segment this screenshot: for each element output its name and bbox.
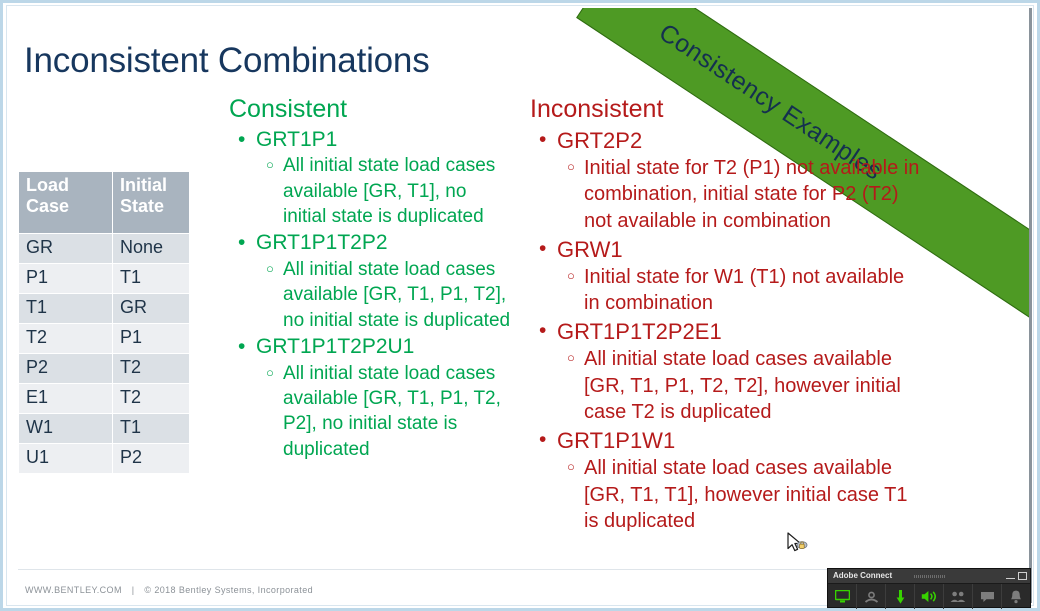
consistent-column: Consistent •GRT1P1○All initial state loa…	[222, 96, 512, 462]
pod-titlebar[interactable]: Adobe Connect	[828, 569, 1030, 584]
combination-label-text: GRT1P1	[256, 128, 337, 151]
note-text: All initial state load cases available […	[283, 363, 501, 460]
adobe-connect-pod[interactable]: Adobe Connect	[827, 568, 1031, 608]
combination-notes: ○All initial state load cases available …	[222, 361, 512, 462]
note-item: ○All initial state load cases available …	[523, 346, 923, 426]
table-header-row: Load Case Initial State	[19, 172, 190, 234]
table-header-load-case: Load Case	[19, 172, 113, 234]
footer-copyright: © 2018 Bentley Systems, Incorporated	[144, 585, 313, 595]
pod-toolbar	[828, 584, 1030, 609]
presentation-viewer: Consistency Examples Inconsistent Combin…	[0, 0, 1040, 611]
list-item: •GRT1P1T2P2E1○All initial state load cas…	[523, 317, 923, 426]
cell-load-case: E1	[19, 384, 113, 414]
list-item: •GRT1P1T2P2U1○All initial state load cas…	[222, 333, 512, 462]
page-title: Inconsistent Combinations	[24, 41, 430, 81]
bullet-circle-icon: ○	[567, 155, 575, 180]
note-item: ○All initial state load cases available …	[523, 455, 923, 535]
bullet-dot-icon: •	[539, 317, 546, 345]
inconsistent-heading: Inconsistent	[530, 96, 923, 124]
cell-load-case: P2	[19, 354, 113, 384]
notification-bell-icon[interactable]	[1002, 584, 1030, 609]
cell-load-case: W1	[19, 414, 113, 444]
speaker-icon[interactable]	[915, 584, 944, 609]
bullet-dot-icon: •	[539, 126, 546, 154]
list-item: •GRT1P1○All initial state load cases ava…	[222, 126, 512, 230]
table-row: T1GR	[19, 294, 190, 324]
note-item: ○All initial state load cases available …	[222, 153, 512, 229]
cell-initial-state: T1	[113, 264, 190, 294]
note-text: All initial state load cases available […	[283, 259, 510, 331]
cell-initial-state: T2	[113, 354, 190, 384]
pod-drag-handle[interactable]	[914, 575, 946, 578]
bullet-dot-icon: •	[238, 229, 245, 257]
combination-notes: ○All initial state load cases available …	[222, 257, 512, 333]
table-row: T2P1	[19, 324, 190, 354]
share-screen-icon[interactable]	[828, 584, 857, 609]
combination-label: •GRW1	[523, 235, 923, 264]
table-row: GRNone	[19, 234, 190, 264]
bullet-circle-icon: ○	[567, 264, 575, 289]
cell-initial-state: T2	[113, 384, 190, 414]
bullet-dot-icon: •	[539, 426, 546, 454]
bullet-circle-icon: ○	[266, 153, 274, 178]
table-row: E1T2	[19, 384, 190, 414]
table-row: P1T1	[19, 264, 190, 294]
bullet-circle-icon: ○	[266, 257, 274, 282]
slide-canvas: Consistency Examples Inconsistent Combin…	[9, 8, 1029, 603]
note-text: Initial state for T2 (P1) not available …	[584, 157, 919, 232]
pod-title-text: Adobe Connect	[833, 571, 892, 580]
cell-initial-state: None	[113, 234, 190, 264]
note-item: ○All initial state load cases available …	[222, 257, 512, 333]
combination-label: •GRT1P1T2P2E1	[523, 317, 923, 346]
cell-load-case: GR	[19, 234, 113, 264]
cell-load-case: T1	[19, 294, 113, 324]
note-text: All initial state load cases available […	[584, 348, 901, 423]
bullet-circle-icon: ○	[567, 455, 575, 480]
combination-label: •GRT2P2	[523, 126, 923, 155]
combination-label-text: GRT1P1T2P2U1	[256, 335, 414, 358]
bullet-dot-icon: •	[238, 333, 245, 361]
load-case-table: Load Case Initial State GRNoneP1T1T1GRT2…	[18, 171, 190, 474]
camera-icon[interactable]	[857, 584, 886, 609]
combination-notes: ○All initial state load cases available …	[523, 346, 923, 426]
combination-label-text: GRT1P1T2P2E1	[557, 319, 722, 344]
note-text: All initial state load cases available […	[584, 457, 907, 532]
table-row: W1T1	[19, 414, 190, 444]
table-row: P2T2	[19, 354, 190, 384]
bullet-circle-icon: ○	[567, 346, 575, 371]
cell-load-case: T2	[19, 324, 113, 354]
note-text: Initial state for W1 (T1) not available …	[584, 266, 904, 315]
consistent-heading: Consistent	[229, 96, 512, 124]
bullet-dot-icon: •	[238, 126, 245, 154]
list-item: •GRW1○Initial state for W1 (T1) not avai…	[523, 235, 923, 317]
chat-icon[interactable]	[973, 584, 1002, 609]
cell-initial-state: P2	[113, 444, 190, 474]
cell-load-case: P1	[19, 264, 113, 294]
cell-load-case: U1	[19, 444, 113, 474]
list-item: •GRT2P2○Initial state for T2 (P1) not av…	[523, 126, 923, 235]
combination-label: •GRT1P1	[222, 126, 512, 154]
inconsistent-list: •GRT2P2○Initial state for T2 (P1) not av…	[523, 126, 923, 536]
note-item: ○Initial state for T2 (P1) not available…	[523, 155, 923, 235]
footer: WWW.BENTLEY.COM | © 2018 Bentley Systems…	[25, 585, 313, 595]
cell-initial-state: T1	[113, 414, 190, 444]
list-item: •GRT1P1W1○All initial state load cases a…	[523, 426, 923, 535]
cell-initial-state: GR	[113, 294, 190, 324]
consistent-list: •GRT1P1○All initial state load cases ava…	[222, 126, 512, 462]
combination-label-text: GRT1P1W1	[557, 428, 675, 453]
combination-notes: ○All initial state load cases available …	[523, 455, 923, 535]
note-item: ○All initial state load cases available …	[222, 361, 512, 462]
list-item: •GRT1P1T2P2○All initial state load cases…	[222, 229, 512, 333]
inconsistent-column: Inconsistent •GRT2P2○Initial state for T…	[523, 96, 923, 535]
note-item: ○Initial state for W1 (T1) not available…	[523, 264, 923, 317]
footer-site: WWW.BENTLEY.COM	[25, 585, 122, 595]
bullet-circle-icon: ○	[266, 361, 274, 386]
combination-notes: ○All initial state load cases available …	[222, 153, 512, 229]
attendees-icon[interactable]	[944, 584, 973, 609]
combination-label-text: GRW1	[557, 237, 623, 262]
table-body: GRNoneP1T1T1GRT2P1P2T2E1T2W1T1U1P2	[19, 234, 190, 474]
combination-notes: ○Initial state for W1 (T1) not available…	[523, 264, 923, 317]
viewer-scrollbar[interactable]	[1029, 8, 1032, 603]
combination-label: •GRT1P1T2P2U1	[222, 333, 512, 361]
combination-label: •GRT1P1T2P2	[222, 229, 512, 257]
footer-separator: |	[132, 585, 135, 595]
microphone-icon[interactable]	[886, 584, 915, 609]
mouse-cursor	[787, 532, 813, 556]
combination-label-text: GRT2P2	[557, 128, 642, 153]
table-header-initial-state: Initial State	[113, 172, 190, 234]
combination-notes: ○Initial state for T2 (P1) not available…	[523, 155, 923, 235]
table-row: U1P2	[19, 444, 190, 474]
pod-maximize-button[interactable]	[1018, 572, 1027, 580]
pod-minimize-button[interactable]	[1006, 572, 1015, 579]
bullet-dot-icon: •	[539, 235, 546, 263]
combination-label: •GRT1P1W1	[523, 426, 923, 455]
note-text: All initial state load cases available […	[283, 155, 495, 227]
cell-initial-state: P1	[113, 324, 190, 354]
combination-label-text: GRT1P1T2P2	[256, 231, 388, 254]
